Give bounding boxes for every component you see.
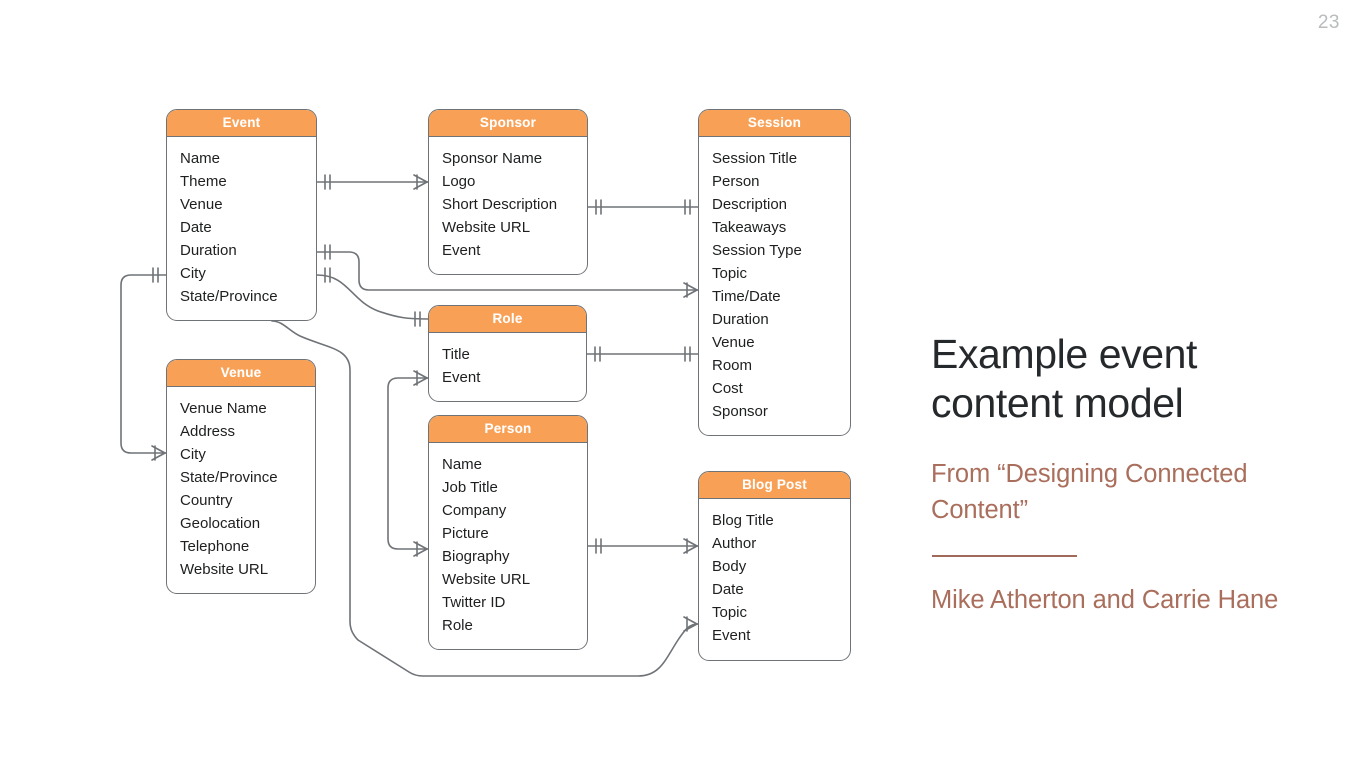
field-row: State/Province: [167, 466, 315, 489]
field-row: Takeaways: [699, 216, 850, 239]
field-row: Venue: [699, 331, 850, 354]
entity-event[interactable]: Event Name Theme Venue Date Duration Cit…: [166, 109, 317, 321]
field-row: Description: [699, 193, 850, 216]
field-row: Country: [167, 489, 315, 512]
er-diagram: Event Name Theme Venue Date Duration Cit…: [0, 0, 910, 766]
page-title: Example event content model: [931, 330, 1331, 428]
field-row: Twitter ID: [429, 591, 587, 614]
field-row: Time/Date: [699, 285, 850, 308]
entity-event-title: Event: [167, 110, 316, 137]
field-row: Topic: [699, 601, 850, 624]
entity-session-fields: Session Title Person Description Takeawa…: [699, 137, 850, 431]
entity-event-fields: Name Theme Venue Date Duration City Stat…: [167, 137, 316, 316]
entity-role[interactable]: Role Title Event: [428, 305, 587, 402]
field-row: Date: [167, 216, 316, 239]
field-row: Sponsor Name: [429, 147, 587, 170]
field-row: Picture: [429, 522, 587, 545]
connector-event-venue: [121, 275, 166, 453]
field-row: State/Province: [167, 285, 316, 308]
field-row: Cost: [699, 377, 850, 400]
field-row: Theme: [167, 170, 316, 193]
entity-session-title: Session: [699, 110, 850, 137]
entity-sponsor[interactable]: Sponsor Sponsor Name Logo Short Descript…: [428, 109, 588, 275]
field-row: Telephone: [167, 535, 315, 558]
entity-blog-post-title: Blog Post: [699, 472, 850, 499]
field-row: Logo: [429, 170, 587, 193]
field-row: Event: [699, 624, 850, 647]
field-row: Website URL: [429, 568, 587, 591]
entity-session[interactable]: Session Session Title Person Description…: [698, 109, 851, 436]
field-row: Role: [429, 614, 587, 637]
field-row: City: [167, 443, 315, 466]
field-row: Room: [699, 354, 850, 377]
entity-person[interactable]: Person Name Job Title Company Picture Bi…: [428, 415, 588, 650]
text-panel: Example event content model From “Design…: [931, 330, 1331, 618]
field-row: Topic: [699, 262, 850, 285]
page-number: 23: [1318, 12, 1340, 34]
field-row: Biography: [429, 545, 587, 568]
field-row: Job Title: [429, 476, 587, 499]
field-row: Event: [429, 239, 587, 262]
field-row: Session Type: [699, 239, 850, 262]
divider: [932, 555, 1077, 557]
field-row: Name: [429, 453, 587, 476]
entity-role-fields: Title Event: [429, 333, 586, 397]
field-row: Title: [429, 343, 586, 366]
field-row: City: [167, 262, 316, 285]
field-row: Website URL: [167, 558, 315, 581]
field-row: Sponsor: [699, 400, 850, 423]
field-row: Short Description: [429, 193, 587, 216]
field-row: Author: [699, 532, 850, 555]
field-row: Geolocation: [167, 512, 315, 535]
field-row: Body: [699, 555, 850, 578]
field-row: Event: [429, 366, 586, 389]
entity-sponsor-title: Sponsor: [429, 110, 587, 137]
entity-sponsor-fields: Sponsor Name Logo Short Description Webs…: [429, 137, 587, 270]
field-row: Venue Name: [167, 397, 315, 420]
field-row: Duration: [167, 239, 316, 262]
entity-venue-title: Venue: [167, 360, 315, 387]
entity-person-fields: Name Job Title Company Picture Biography…: [429, 443, 587, 645]
field-row: Duration: [699, 308, 850, 331]
entity-venue[interactable]: Venue Venue Name Address City State/Prov…: [166, 359, 316, 594]
field-row: Website URL: [429, 216, 587, 239]
connector-event-role: [317, 275, 428, 319]
field-row: Session Title: [699, 147, 850, 170]
field-row: Person: [699, 170, 850, 193]
authors: Mike Atherton and Carrie Hane: [931, 582, 1331, 618]
field-row: Date: [699, 578, 850, 601]
field-row: Name: [167, 147, 316, 170]
source-attribution: From “Designing Connected Content”: [931, 456, 1331, 528]
connector-role-person: [388, 378, 428, 549]
entity-venue-fields: Venue Name Address City State/Province C…: [167, 387, 315, 589]
entity-person-title: Person: [429, 416, 587, 443]
field-row: Company: [429, 499, 587, 522]
field-row: Venue: [167, 193, 316, 216]
entity-blog-post-fields: Blog Title Author Body Date Topic Event: [699, 499, 850, 655]
field-row: Blog Title: [699, 509, 850, 532]
entity-blog-post[interactable]: Blog Post Blog Title Author Body Date To…: [698, 471, 851, 661]
entity-role-title: Role: [429, 306, 586, 333]
field-row: Address: [167, 420, 315, 443]
